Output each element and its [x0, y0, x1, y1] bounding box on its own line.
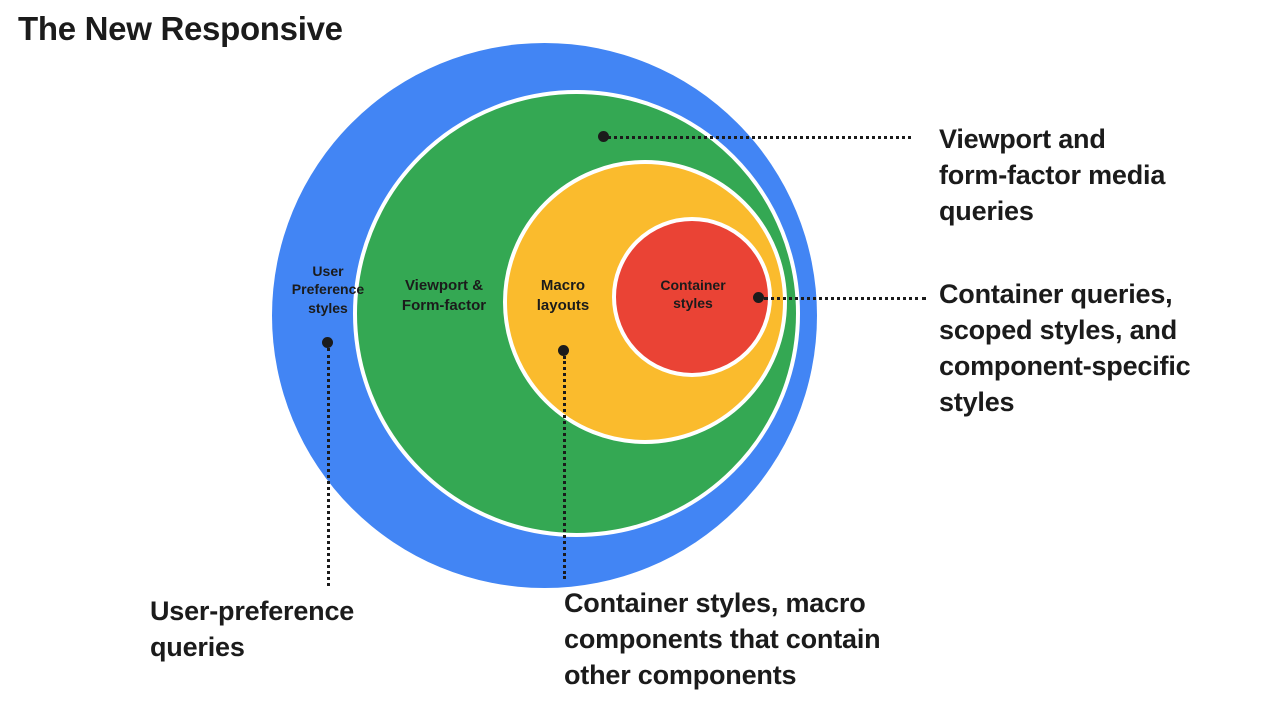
leader-line-user-preference	[327, 348, 330, 586]
ring-label-macro-layouts: Macro layouts	[517, 276, 609, 316]
leader-dot-user-preference	[322, 337, 333, 348]
leader-line-macro	[563, 356, 566, 579]
leader-dot-container	[753, 292, 764, 303]
callout-user-preference-queries: User-preference queries	[150, 594, 480, 666]
leader-dot-macro	[558, 345, 569, 356]
ring-label-viewport: Viewport & Form-factor	[382, 276, 506, 316]
page-title: The New Responsive	[18, 10, 343, 48]
ring-label-user-preference: User Preference styles	[280, 262, 376, 317]
slide-canvas: The New Responsive User Preference style…	[0, 0, 1280, 707]
callout-viewport-media-queries: Viewport and form-factor media queries	[939, 122, 1259, 230]
callout-container-styles-macro: Container styles, macro components that …	[564, 586, 994, 694]
leader-line-viewport	[608, 136, 911, 139]
callout-container-queries: Container queries, scoped styles, and co…	[939, 277, 1269, 421]
ring-label-container-styles: Container styles	[640, 276, 746, 313]
leader-line-container	[764, 297, 926, 300]
